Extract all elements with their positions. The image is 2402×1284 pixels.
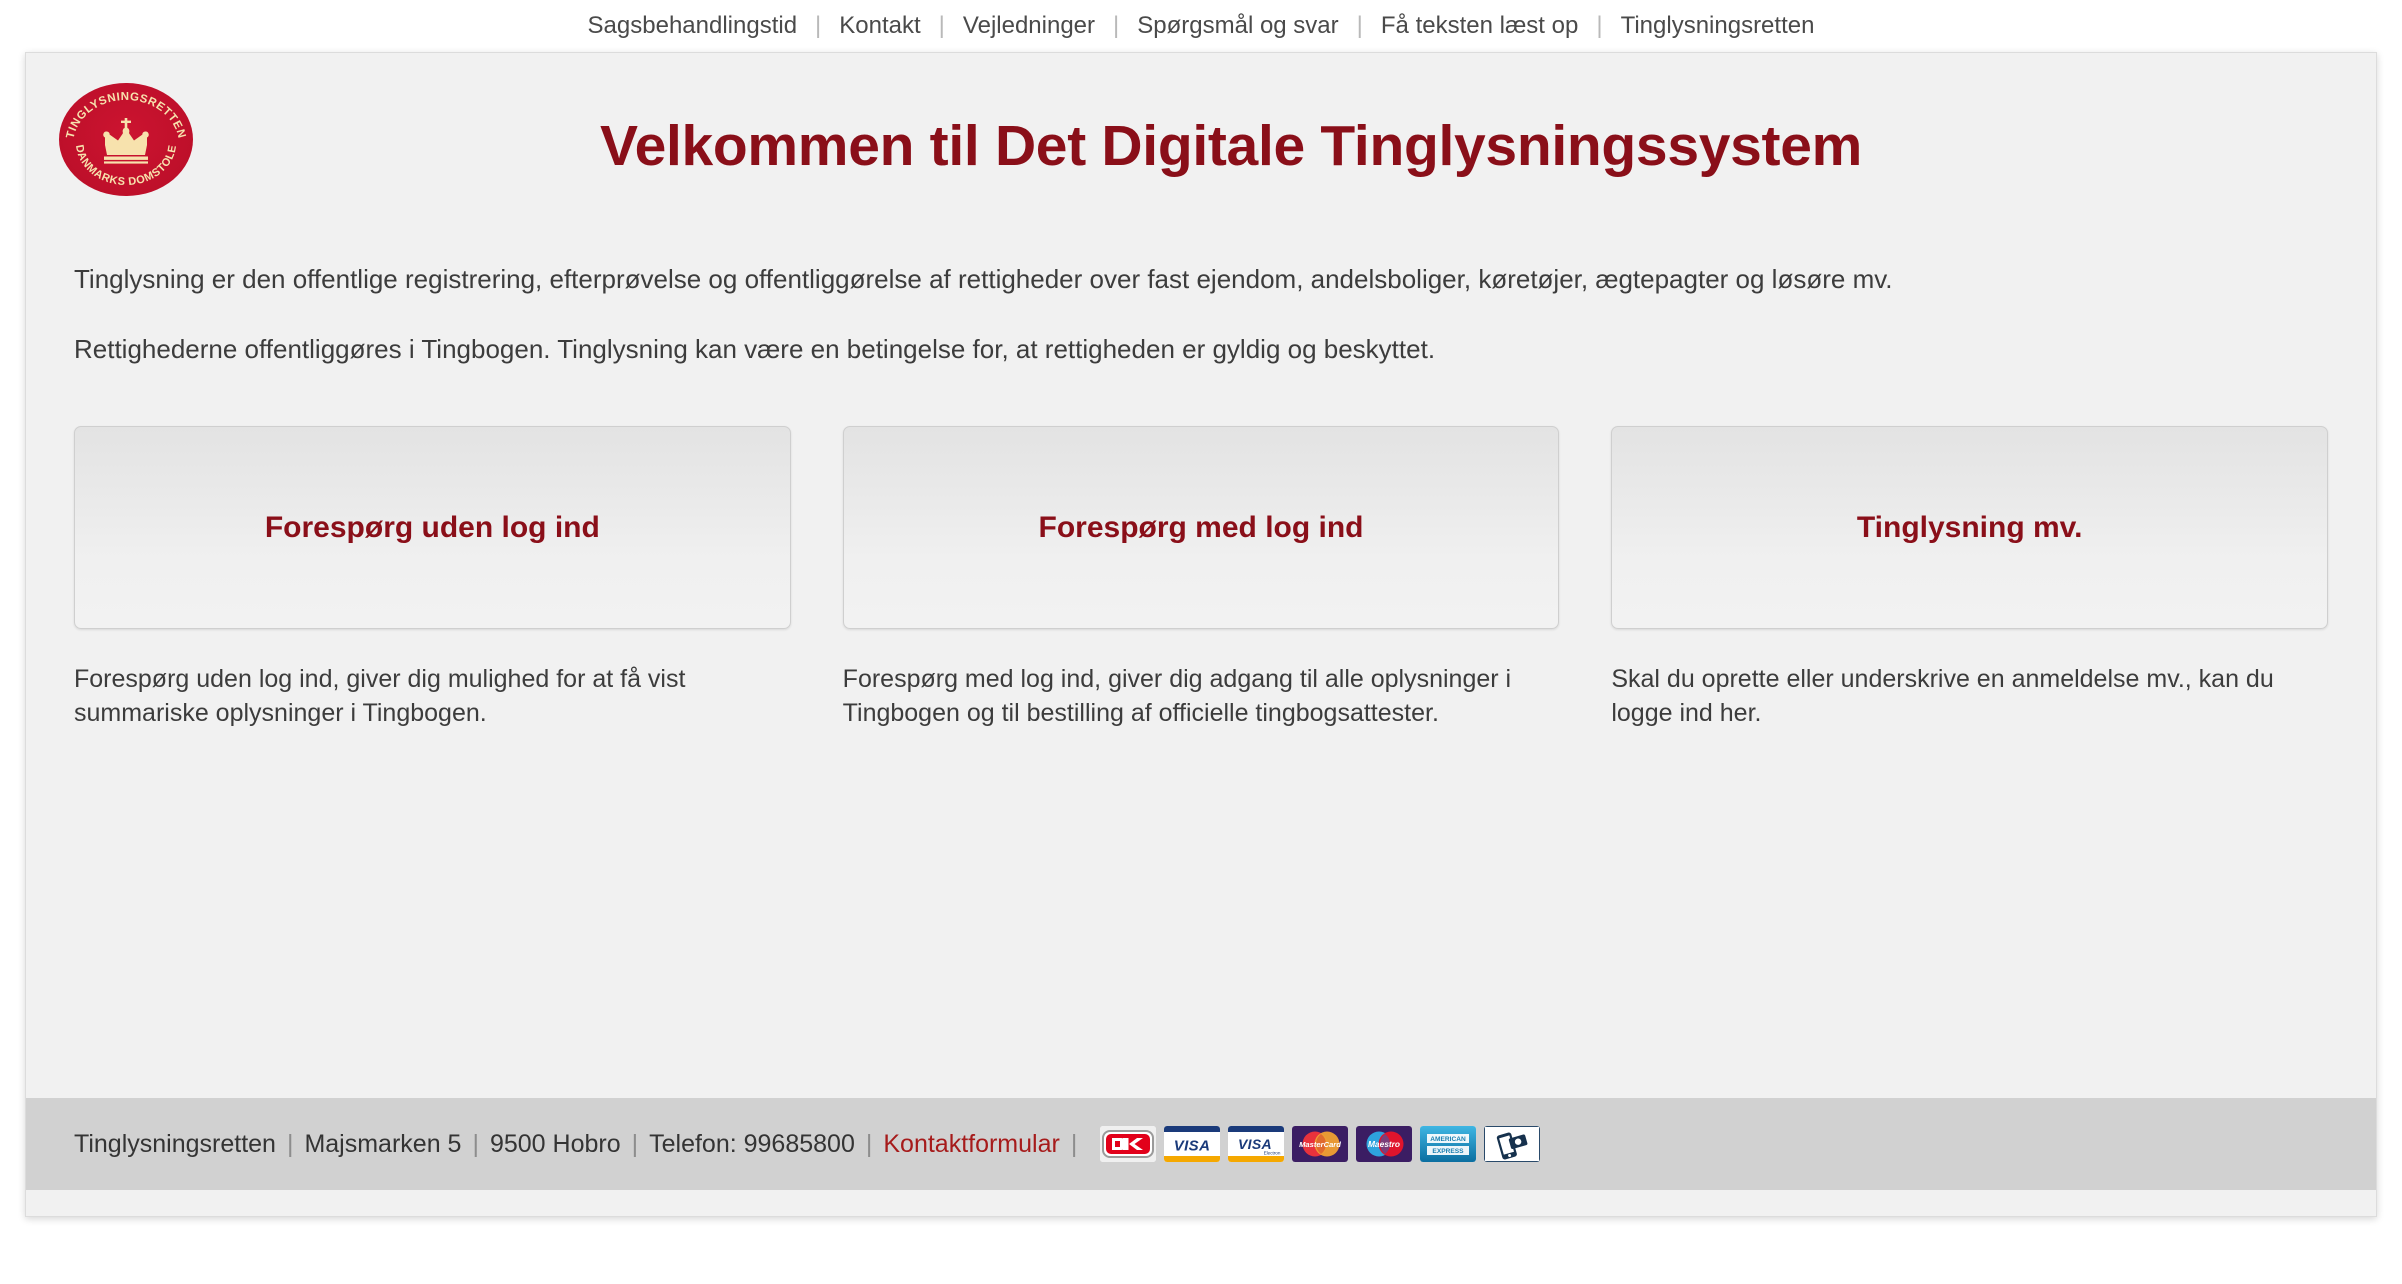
tinglysningsretten-seal-icon[interactable]: TINGLYSNINGSRETTEN DANMARKS DOMSTOLE [59,83,193,196]
card-description: Skal du oprette eller underskrive en anm… [1611,662,2328,730]
card-foresporg-med-log-ind[interactable]: Forespørg med log ind [843,426,1560,629]
svg-text:Electron: Electron [1264,1151,1281,1156]
crown-icon [103,118,148,164]
intro-paragraph-1: Tinglysning er den offentlige registreri… [74,263,2376,296]
card-description: Forespørg med log ind, giver dig adgang … [843,662,1560,730]
title-wrap: Velkommen til Det Digitale Tinglysningss… [226,75,2376,179]
payment-methods: VISA VISA Electron [1100,1126,1540,1162]
card-label: Forespørg uden log ind [265,511,600,545]
card-label: Tinglysning mv. [1857,511,2083,545]
footer-separator: | [461,1130,490,1159]
card-column-tinglysning-mv: Tinglysning mv. Skal du oprette eller un… [1611,426,2328,730]
topnav-item-sagsbehandlingstid[interactable]: Sagsbehandlingstid [570,14,816,38]
page-body: TINGLYSNINGSRETTEN DANMARKS DOMSTOLE [26,53,2376,1098]
intro-paragraph-2: Rettighederne offentliggøres i Tingbogen… [74,333,2376,366]
topnav-item-faa-teksten-laest-op[interactable]: Få teksten læst op [1363,14,1596,38]
page-title: Velkommen til Det Digitale Tinglysningss… [600,113,1862,179]
footer-separator: | [855,1130,884,1159]
mastercard-icon: MasterCard [1292,1126,1348,1162]
topnav-item-tinglysningsretten[interactable]: Tinglysningsretten [1603,14,1833,38]
svg-text:EXPRESS: EXPRESS [1433,1148,1465,1155]
visa-icon: VISA [1164,1126,1220,1162]
footer: Tinglysningsretten | Majsmarken 5 | 9500… [26,1098,2376,1190]
card-foresporg-uden-log-ind[interactable]: Forespørg uden log ind [74,426,791,629]
visa-electron-icon: VISA Electron [1228,1126,1284,1162]
footer-phone: Telefon: 99685800 [649,1130,855,1159]
card-description: Forespørg uden log ind, giver dig muligh… [74,662,791,730]
top-utility-nav: Sagsbehandlingstid | Kontakt | Vejlednin… [0,0,2402,52]
card-tinglysning-mv[interactable]: Tinglysning mv. [1611,426,2328,629]
footer-separator: | [621,1130,650,1159]
footer-separator: | [1060,1130,1089,1159]
footer-contact-link[interactable]: Kontaktformular [883,1130,1059,1159]
logo-wrap: TINGLYSNINGSRETTEN DANMARKS DOMSTOLE [26,75,226,196]
mobilepay-icon [1484,1126,1540,1162]
intro-section: Tinglysning er den offentlige registreri… [26,243,2376,365]
footer-city: 9500 Hobro [490,1130,621,1159]
svg-text:VISA: VISA [1174,1138,1211,1155]
footer-street: Majsmarken 5 [304,1130,461,1159]
topnav-item-vejledninger[interactable]: Vejledninger [945,14,1113,38]
svg-text:MasterCard: MasterCard [1299,1140,1341,1149]
card-column-foresporg-uden-log-ind: Forespørg uden log ind Forespørg uden lo… [74,426,791,730]
page-container: TINGLYSNINGSRETTEN DANMARKS DOMSTOLE [25,52,2377,1217]
footer-bottom-strip [26,1190,2376,1216]
card-column-foresporg-med-log-ind: Forespørg med log ind Forespørg med log … [843,426,1560,730]
footer-organization: Tinglysningsretten [74,1130,276,1159]
svg-text:AMERICAN: AMERICAN [1431,1136,1467,1143]
masthead: TINGLYSNINGSRETTEN DANMARKS DOMSTOLE [26,53,2376,243]
american-express-icon: AMERICAN EXPRESS [1420,1126,1476,1162]
svg-text:Maestro: Maestro [1368,1139,1400,1149]
maestro-icon: Maestro [1356,1126,1412,1162]
topnav-item-sporgsmaal-og-svar[interactable]: Spørgsmål og svar [1119,14,1356,38]
dankort-icon [1100,1126,1156,1162]
footer-separator: | [276,1130,305,1159]
card-label: Forespørg med log ind [1039,511,1364,545]
topnav-item-kontakt[interactable]: Kontakt [821,14,938,38]
action-cards: Forespørg uden log ind Forespørg uden lo… [26,402,2376,730]
